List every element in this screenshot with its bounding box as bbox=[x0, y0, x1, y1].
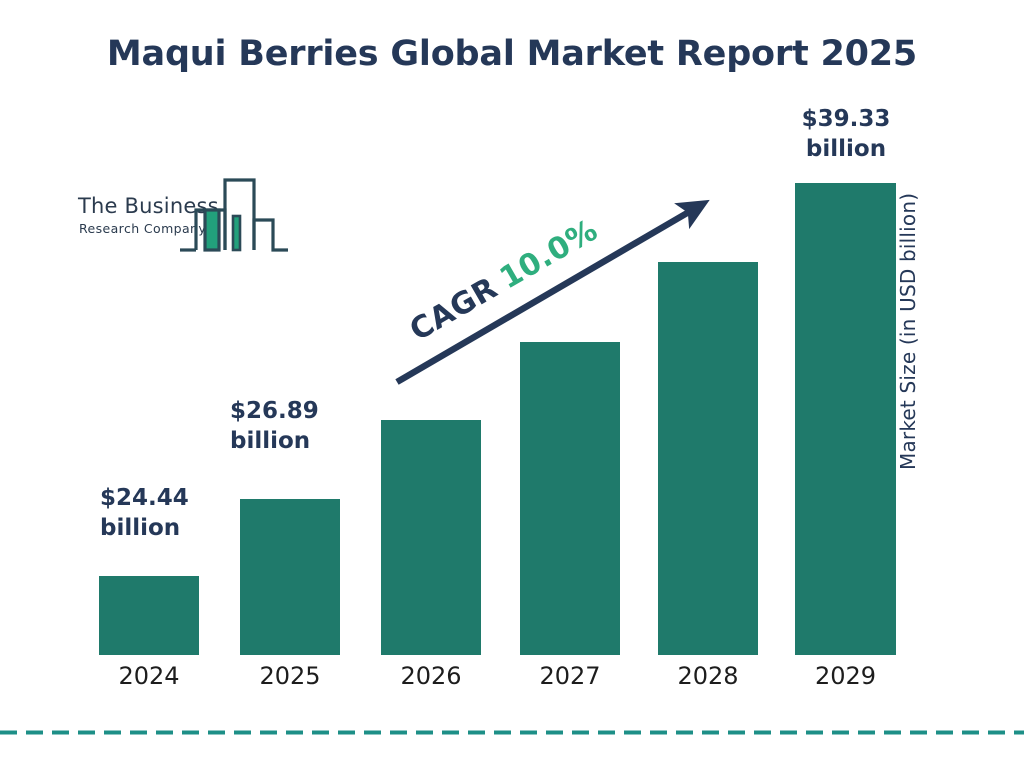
bar-2026 bbox=[381, 420, 481, 655]
x-tick-label-2027: 2027 bbox=[520, 662, 620, 690]
bar-2025 bbox=[240, 499, 340, 655]
bar-2027 bbox=[520, 342, 620, 655]
x-tick-label-2026: 2026 bbox=[381, 662, 481, 690]
x-tick-label-2024: 2024 bbox=[99, 662, 199, 690]
bar-value-label-2029: $39.33 billion bbox=[790, 104, 902, 165]
x-tick-label-2028: 2028 bbox=[658, 662, 758, 690]
plot-area: $24.44 billion $26.89 billion $39.33 bil… bbox=[0, 0, 1024, 768]
bar-2028 bbox=[658, 262, 758, 655]
bar-value-label-2024: $24.44 billion bbox=[100, 483, 210, 544]
x-tick-label-2025: 2025 bbox=[240, 662, 340, 690]
bar-value-label-2025: $26.89 billion bbox=[230, 396, 350, 457]
cagr-annotation: CAGR10.0% bbox=[404, 213, 604, 349]
bottom-divider bbox=[0, 730, 1024, 735]
cagr-value: 10.0% bbox=[494, 213, 604, 297]
y-axis-title: Market Size (in USD billion) bbox=[896, 193, 920, 470]
bar-2024 bbox=[99, 576, 199, 655]
bar-2029 bbox=[795, 183, 896, 655]
x-tick-label-2029: 2029 bbox=[795, 662, 896, 690]
cagr-label: CAGR bbox=[404, 271, 504, 349]
chart-canvas: Maqui Berries Global Market Report 2025 … bbox=[0, 0, 1024, 768]
